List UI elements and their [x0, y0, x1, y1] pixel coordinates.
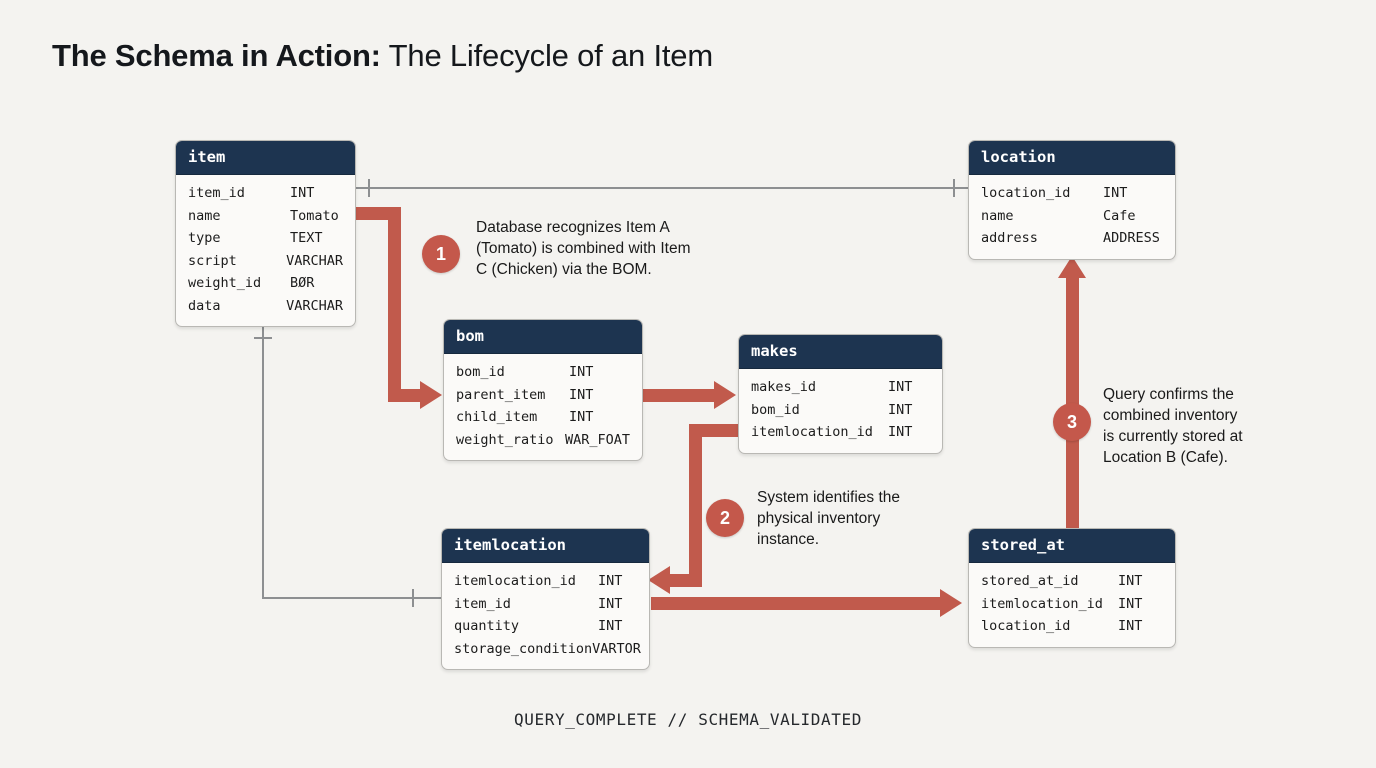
- table-row: stored_at_id INT: [981, 570, 1163, 593]
- field-type: INT: [569, 384, 593, 407]
- table-row: makes_id INT: [751, 376, 930, 399]
- field-type: INT: [290, 182, 314, 205]
- table-row: name Cafe: [981, 205, 1163, 228]
- table-item-title: item: [176, 141, 355, 175]
- table-itemlocation-fields: itemlocation_id INT item_id INT quantity…: [442, 563, 649, 669]
- field-type: INT: [598, 615, 622, 638]
- step-text-line: C (Chicken) via the BOM.: [476, 259, 731, 280]
- table-stored-at-title: stored_at: [969, 529, 1175, 563]
- field-name: stored_at_id: [981, 570, 1118, 593]
- field-type: VARCHAR: [286, 295, 343, 318]
- table-row: itemlocation_id INT: [751, 421, 930, 444]
- table-makes[interactable]: makes makes_id INT bom_id INT itemlocati…: [738, 334, 943, 454]
- field-type: TEXT: [290, 227, 323, 250]
- table-bom-fields: bom_id INT parent_item INT child_item IN…: [444, 354, 642, 460]
- field-type: ADDRESS: [1103, 227, 1160, 250]
- table-row: child_item INT: [456, 406, 630, 429]
- step-text-line: Database recognizes Item A: [476, 217, 731, 238]
- field-name: bom_id: [456, 361, 569, 384]
- field-name: name: [188, 205, 290, 228]
- field-name: name: [981, 205, 1103, 228]
- field-name: weight_id: [188, 272, 290, 295]
- table-itemlocation-title: itemlocation: [442, 529, 649, 563]
- table-row: quantity INT: [454, 615, 637, 638]
- table-row: bom_id INT: [456, 361, 630, 384]
- flow-bom-to-makes-line: [643, 389, 717, 402]
- field-name: location_id: [981, 182, 1103, 205]
- table-itemlocation[interactable]: itemlocation itemlocation_id INT item_id…: [441, 528, 650, 670]
- flow-storedat-to-location-line: [1066, 276, 1079, 528]
- field-name: type: [188, 227, 290, 250]
- table-row: data VARCHAR: [188, 295, 343, 318]
- table-row: location_id INT: [981, 182, 1163, 205]
- table-row: weight_id BØR: [188, 272, 343, 295]
- field-type: VARCHAR: [286, 250, 343, 273]
- field-type: INT: [888, 421, 912, 444]
- field-type: INT: [888, 376, 912, 399]
- step-badge-1: 1: [422, 235, 460, 273]
- table-row: weight_ratio WAR_FOAT: [456, 429, 630, 452]
- flow-item-to-bom-segment-3: [388, 389, 424, 402]
- step-text-line: physical inventory: [757, 508, 977, 529]
- step-text-line: is currently stored at: [1103, 426, 1293, 447]
- field-type: INT: [1118, 593, 1142, 616]
- field-name: location_id: [981, 615, 1118, 638]
- step-text-3: Query confirms the combined inventory is…: [1103, 384, 1293, 468]
- field-type: INT: [888, 399, 912, 422]
- field-name: storage_condition: [454, 638, 592, 661]
- table-location-title: location: [969, 141, 1175, 175]
- page-title-light: The Lifecycle of an Item: [381, 38, 713, 73]
- step-text-line: Location B (Cafe).: [1103, 447, 1293, 468]
- field-name: bom_id: [751, 399, 888, 422]
- field-name: itemlocation_id: [751, 421, 888, 444]
- field-type: INT: [569, 361, 593, 384]
- table-makes-title: makes: [739, 335, 942, 369]
- field-type: WAR_FOAT: [565, 429, 630, 452]
- field-type: INT: [1118, 570, 1142, 593]
- field-type: Tomato: [290, 205, 339, 228]
- table-row: item_id INT: [454, 593, 637, 616]
- flow-item-to-bom-arrowhead: [420, 381, 442, 409]
- table-row: script VARCHAR: [188, 250, 343, 273]
- diagram-canvas: The Schema in Action: The Lifecycle of a…: [0, 0, 1376, 768]
- step-text-line: (Tomato) is combined with Item: [476, 238, 731, 259]
- step-text-2: System identifies the physical inventory…: [757, 487, 977, 550]
- field-name: itemlocation_id: [454, 570, 598, 593]
- field-name: script: [188, 250, 286, 273]
- table-location[interactable]: location location_id INT name Cafe addre…: [968, 140, 1176, 260]
- flow-bom-to-makes-arrowhead: [714, 381, 736, 409]
- field-type: INT: [598, 593, 622, 616]
- connector-tick-item-bottom: [254, 337, 272, 339]
- field-type: INT: [1103, 182, 1127, 205]
- table-row: storage_condition VARTOR: [454, 638, 637, 661]
- flow-makes-to-itemlocation-segment-2: [689, 424, 702, 574]
- table-row: name Tomato: [188, 205, 343, 228]
- table-row: type TEXT: [188, 227, 343, 250]
- table-row: parent_item INT: [456, 384, 630, 407]
- table-row: itemlocation_id INT: [454, 570, 637, 593]
- footer-status-text: QUERY_COMPLETE // SCHEMA_VALIDATED: [0, 710, 1376, 729]
- table-row: address ADDRESS: [981, 227, 1163, 250]
- table-item[interactable]: item item_id INT name Tomato type TEXT s…: [175, 140, 356, 327]
- field-name: address: [981, 227, 1103, 250]
- field-name: makes_id: [751, 376, 888, 399]
- page-title: The Schema in Action: The Lifecycle of a…: [52, 38, 713, 74]
- connector-item-location: [355, 187, 968, 189]
- step-text-line: instance.: [757, 529, 977, 550]
- table-bom-title: bom: [444, 320, 642, 354]
- flow-makes-to-itemlocation-segment-3: [670, 574, 702, 587]
- page-title-strong: The Schema in Action:: [52, 38, 381, 73]
- step-badge-2: 2: [706, 499, 744, 537]
- field-name: data: [188, 295, 286, 318]
- table-row: itemlocation_id INT: [981, 593, 1163, 616]
- flow-itemlocation-to-storedat-arrowhead: [940, 589, 962, 617]
- field-name: parent_item: [456, 384, 569, 407]
- step-text-1: Database recognizes Item A (Tomato) is c…: [476, 217, 731, 280]
- field-type: INT: [598, 570, 622, 593]
- field-type: INT: [1118, 615, 1142, 638]
- field-name: item_id: [454, 593, 598, 616]
- connector-tick-itemlocation-left: [412, 589, 414, 607]
- table-makes-fields: makes_id INT bom_id INT itemlocation_id …: [739, 369, 942, 453]
- flow-itemlocation-to-storedat-line: [651, 597, 943, 610]
- field-type: INT: [569, 406, 593, 429]
- field-name: child_item: [456, 406, 569, 429]
- table-row: location_id INT: [981, 615, 1163, 638]
- connector-item-itemlocation-vertical: [262, 322, 264, 599]
- flow-item-to-bom-segment-2: [388, 207, 401, 389]
- table-stored-at[interactable]: stored_at stored_at_id INT itemlocation_…: [968, 528, 1176, 648]
- field-name: itemlocation_id: [981, 593, 1118, 616]
- field-type: VARTOR: [592, 638, 641, 661]
- table-row: bom_id INT: [751, 399, 930, 422]
- table-stored-at-fields: stored_at_id INT itemlocation_id INT loc…: [969, 563, 1175, 647]
- flow-makes-to-itemlocation-arrowhead: [648, 566, 670, 594]
- table-item-fields: item_id INT name Tomato type TEXT script…: [176, 175, 355, 326]
- field-name: quantity: [454, 615, 598, 638]
- field-name: item_id: [188, 182, 290, 205]
- step-badge-3: 3: [1053, 403, 1091, 441]
- field-name: weight_ratio: [456, 429, 565, 452]
- field-type: BØR: [290, 272, 314, 295]
- table-bom[interactable]: bom bom_id INT parent_item INT child_ite…: [443, 319, 643, 461]
- field-type: Cafe: [1103, 205, 1136, 228]
- connector-tick-item-location-right: [953, 179, 955, 197]
- table-row: item_id INT: [188, 182, 343, 205]
- table-location-fields: location_id INT name Cafe address ADDRES…: [969, 175, 1175, 259]
- step-text-line: System identifies the: [757, 487, 977, 508]
- connector-tick-item-location-left: [368, 179, 370, 197]
- step-text-line: combined inventory: [1103, 405, 1293, 426]
- step-text-line: Query confirms the: [1103, 384, 1293, 405]
- connector-item-itemlocation-horizontal: [262, 597, 443, 599]
